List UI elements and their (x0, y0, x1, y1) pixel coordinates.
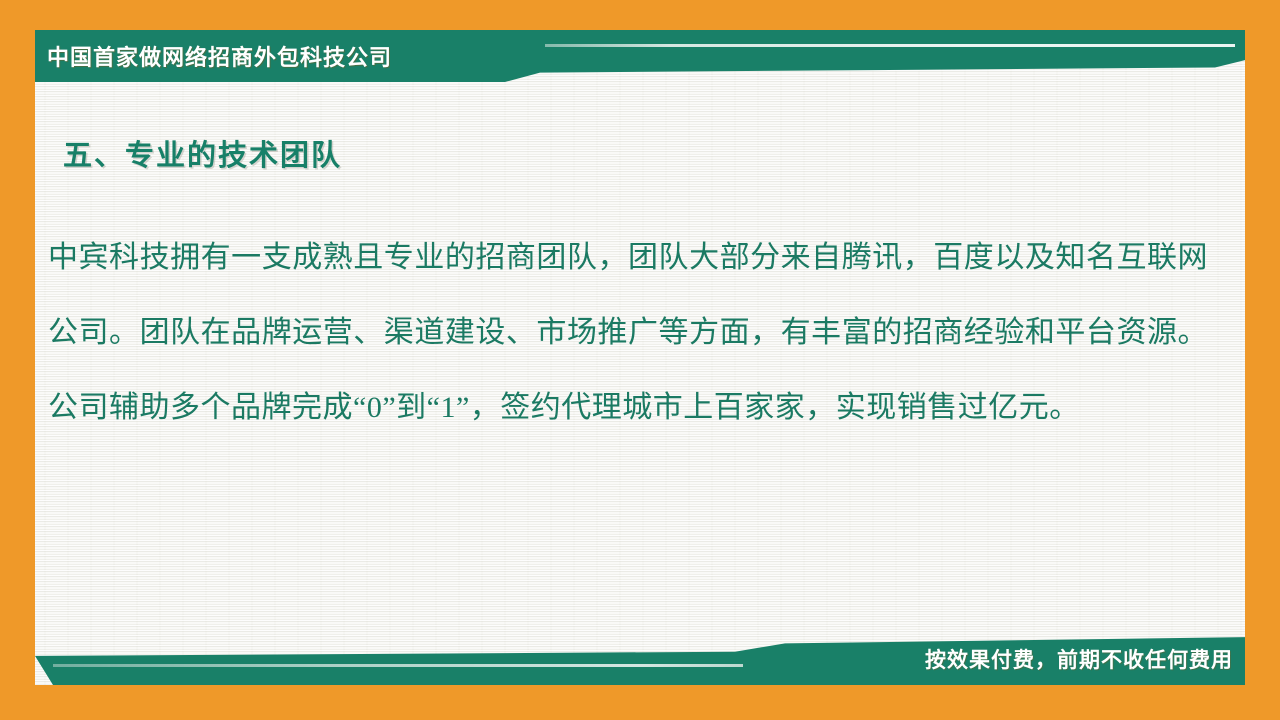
header-accent-line (545, 44, 1235, 47)
section-heading: 五、专业的技术团队 (63, 132, 342, 174)
footer-banner: 按效果付费，前期不收任何费用 (35, 633, 1245, 685)
slide-canvas: 中国首家做网络招商外包科技公司 五、专业的技术团队 中宾科技拥有一支成熟且专业的… (0, 0, 1280, 720)
footer-banner-tagline: 按效果付费，前期不收任何费用 (925, 644, 1233, 674)
body-paragraph: 中宾科技拥有一支成熟且专业的招商团队，团队大部分来自腾讯，百度以及知名互联网公司… (48, 220, 1208, 445)
header-banner-title: 中国首家做网络招商外包科技公司 (47, 40, 392, 72)
header-banner: 中国首家做网络招商外包科技公司 (35, 30, 1245, 82)
footer-accent-line (53, 664, 743, 667)
slide-content: 五、专业的技术团队 中宾科技拥有一支成熟且专业的招商团队，团队大部分来自腾讯，百… (35, 95, 1245, 615)
